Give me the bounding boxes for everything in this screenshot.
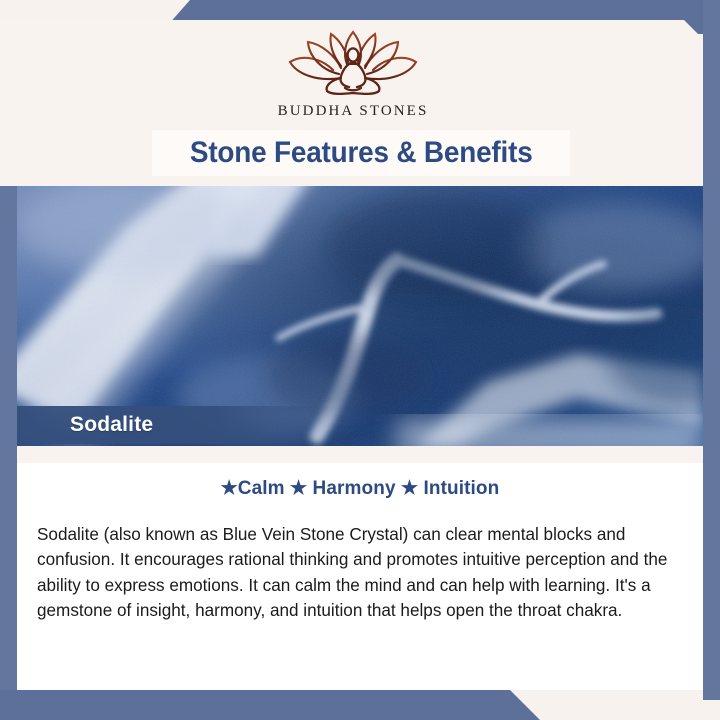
- description-card: ★Calm ★ Harmony ★ Intuition Sodalite (al…: [17, 463, 703, 690]
- lotus-meditation-icon: [277, 26, 429, 98]
- page-title: Stone Features & Benefits: [190, 136, 533, 170]
- right-accent-rail: [703, 0, 720, 700]
- stone-info-card: BUDDHA STONES Stone Features & Benefits: [0, 0, 720, 720]
- left-accent-rail: [0, 186, 17, 700]
- divider-strip: [17, 446, 703, 463]
- benefits-line: ★Calm ★ Harmony ★ Intuition: [17, 477, 703, 500]
- stone-name-bar: Sodalite: [17, 406, 337, 444]
- brand-name: BUDDHA STONES: [278, 103, 429, 120]
- brand-block: BUDDHA STONES: [0, 26, 706, 120]
- page-title-box: Stone Features & Benefits: [152, 130, 570, 176]
- bottom-accent-band: [0, 690, 720, 720]
- stone-name-label: Sodalite: [70, 413, 153, 437]
- stone-description: Sodalite (also known as Blue Vein Stone …: [37, 522, 673, 624]
